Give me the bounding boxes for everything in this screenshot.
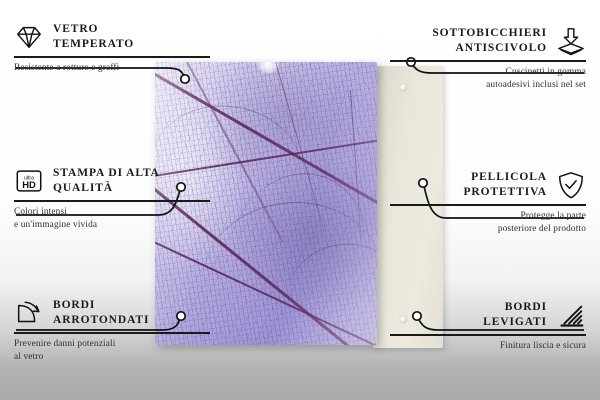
feature-subtitle: Cuscinetti in gomma autoadesivi inclusi … [390, 66, 586, 91]
infographic-stage: VETRO TEMPERATO Resistente a rotture e g… [0, 0, 600, 400]
anti-slip-pad-icon [556, 26, 586, 56]
feature-subtitle: Protegge la parte posteriore del prodott… [390, 210, 586, 235]
feature-title: BORDI ARROTONDATI [53, 298, 149, 328]
shield-check-icon [556, 170, 586, 200]
feature-subtitle: Colori intensi e un'immagine vivida [14, 206, 210, 231]
polished-edge-icon [556, 300, 586, 330]
feature-pellicola-protettiva[interactable]: PELLICOLA PROTETTIVA Protegge la parte p… [390, 170, 586, 235]
feature-title: BORDI LEVIGATI [483, 300, 547, 330]
feature-header: BORDI ARROTONDATI [14, 298, 210, 328]
feature-title: PELLICOLA PROTETTIVA [463, 170, 547, 200]
feature-title: STAMPA DI ALTA QUALITÀ [53, 166, 160, 196]
feature-title: VETRO TEMPERATO [53, 22, 134, 52]
feature-bordi-arrotondati[interactable]: BORDI ARROTONDATI Prevenire danni potenz… [14, 298, 210, 363]
feature-divider [390, 334, 586, 336]
feature-divider [14, 200, 210, 202]
feature-header: VETRO TEMPERATO [14, 22, 210, 52]
feature-title: SOTTOBICCHIERI ANTISCIVOLO [432, 26, 547, 56]
ultra-hd-icon-large-text: HD [22, 180, 36, 190]
feature-divider [14, 56, 210, 58]
feature-vetro-temperato[interactable]: VETRO TEMPERATO Resistente a rotture e g… [14, 22, 210, 75]
rounded-corner-icon [14, 298, 44, 328]
feature-divider [390, 204, 586, 206]
feature-divider [390, 60, 586, 62]
ultra-hd-icon: ultra HD [14, 166, 44, 196]
feature-subtitle: Finitura liscia e sicura [390, 340, 586, 352]
feature-subtitle: Prevenire danni potenziali al vetro [14, 338, 210, 363]
feature-divider [14, 332, 210, 334]
diamond-icon [14, 22, 44, 52]
feature-subtitle: Resistente a rotture e graffi [14, 62, 210, 74]
feature-bordi-levigati[interactable]: BORDI LEVIGATI Finitura liscia e sicura [390, 300, 586, 353]
feature-sottobicchieri-antiscivolo[interactable]: SOTTOBICCHIERI ANTISCIVOLO Cuscinetti in… [390, 26, 586, 91]
feature-header: BORDI LEVIGATI [390, 300, 586, 330]
feature-stampa-di-alta-qualita[interactable]: ultra HD STAMPA DI ALTA QUALITÀ Colori i… [14, 166, 210, 231]
feature-header: PELLICOLA PROTETTIVA [390, 170, 586, 200]
feature-header: ultra HD STAMPA DI ALTA QUALITÀ [14, 166, 210, 196]
feature-header: SOTTOBICCHIERI ANTISCIVOLO [390, 26, 586, 56]
